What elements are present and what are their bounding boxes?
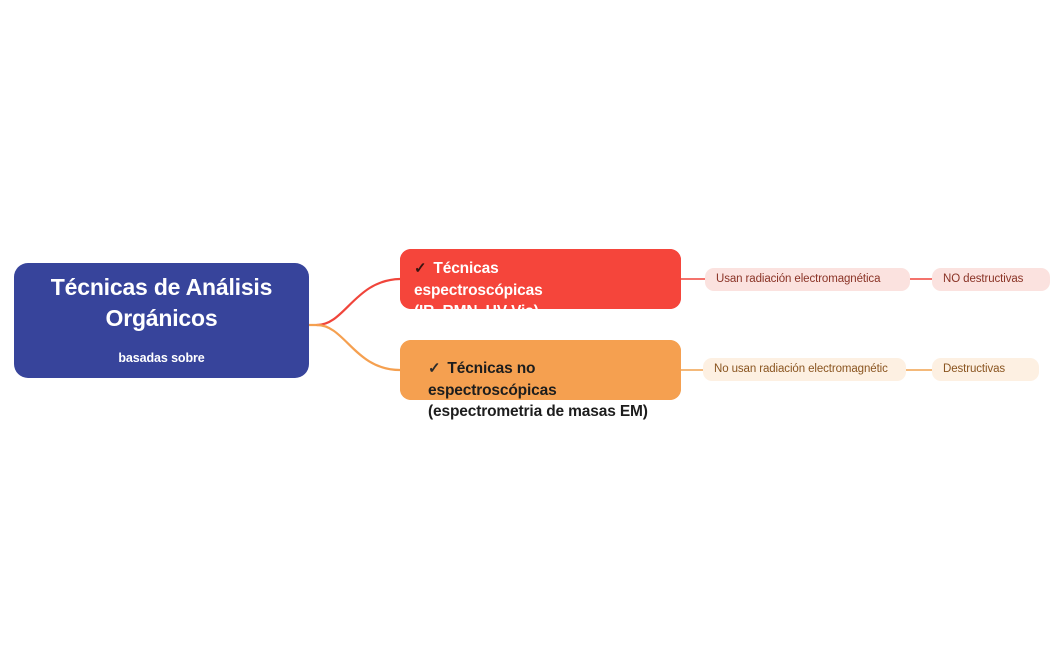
branch-red-text: ✓Técnicas espectroscópicas (IR, RMN, UV-…: [400, 249, 681, 309]
root-node[interactable]: Técnicas de Análisis Orgánicos basadas s…: [14, 263, 309, 378]
root-title: Técnicas de Análisis Orgánicos: [28, 272, 295, 333]
mindmap-canvas: Técnicas de Análisis Orgánicos basadas s…: [0, 0, 1050, 649]
label-destructivas[interactable]: Destructivas: [932, 358, 1039, 381]
branch-node-espectroscopicas[interactable]: ✓Técnicas espectroscópicas (IR, RMN, UV-…: [400, 249, 681, 309]
check-icon: ✓: [428, 359, 440, 380]
branch-orange-text: ✓Técnicas no espectroscópicas (espectrom…: [414, 349, 695, 422]
check-icon: ✓: [414, 259, 426, 280]
branch-red-line3: (IR, RMN, UV-Vis): [414, 303, 539, 309]
branch-red-line1: Técnicas: [433, 260, 498, 277]
branch-red-line2: espectroscópicas: [414, 282, 543, 299]
label-no-destructivas[interactable]: NO destructivas: [932, 268, 1050, 291]
label-usan-radiacion[interactable]: Usan radiación electromagnética: [705, 268, 910, 291]
root-subtitle: basadas sobre: [118, 351, 204, 365]
branch-orange-line2: espectroscópicas: [428, 382, 557, 399]
branch-orange-line3: (espectrometria de masas EM): [428, 403, 648, 420]
label-no-usan-radiacion[interactable]: No usan radiación electromagnétic: [703, 358, 906, 381]
branch-node-no-espectroscopicas[interactable]: ✓Técnicas no espectroscópicas (espectrom…: [400, 340, 681, 400]
branch-red-background: ✓Técnicas espectroscópicas (IR, RMN, UV-…: [400, 249, 681, 309]
branch-orange-line1: Técnicas no: [447, 360, 535, 377]
